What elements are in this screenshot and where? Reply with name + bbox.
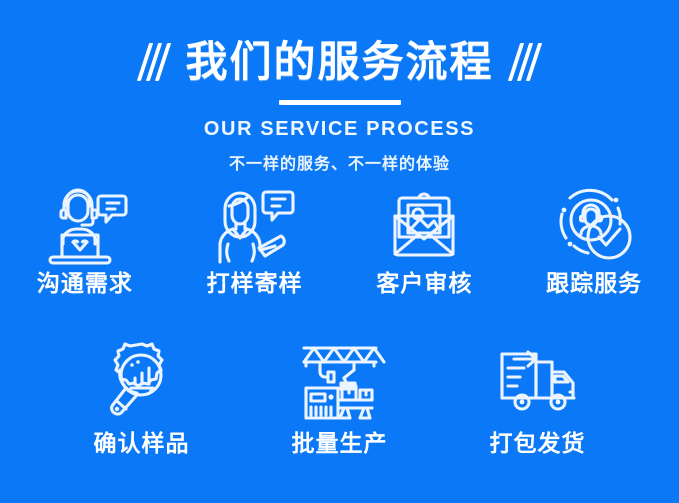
process-step-customer-review[interactable]: 客户审核 [340,182,510,297]
process-step-label: 打包发货 [490,432,586,457]
banner-header: 我们的服务流程 OUR SERVICE PROCESS 不一样的服务、不一样的体… [0,34,679,174]
process-step-label: 跟踪服务 [546,272,642,297]
process-step-label: 打样寄样 [207,272,303,297]
process-step-label: 客户审核 [376,272,472,297]
decor-slashes-right-icon [514,42,536,82]
process-step-sample-confirm[interactable]: 确认样品 [43,336,241,457]
process-step-packing-shipping[interactable]: 打包发货 [439,336,637,457]
agent-check-circle-icon [548,182,640,266]
decor-slashes-left-icon [143,42,165,82]
process-row-one: 沟通需求 [0,182,679,297]
service-process-banner: 我们的服务流程 OUR SERVICE PROCESS 不一样的服务、不一样的体… [0,0,679,503]
delivery-truck-icon [492,336,584,424]
process-row-two: 确认样品 [0,336,679,457]
process-step-label: 批量生产 [292,432,388,457]
title-row: 我们的服务流程 [0,34,679,90]
title-divider [279,100,401,105]
page-title: 我们的服务流程 [185,41,493,83]
process-step-label: 沟通需求 [37,272,133,297]
process-step-tracking[interactable]: 跟踪服务 [509,182,679,297]
woman-presenting-chat-icon [209,182,301,266]
subtitle-chinese: 不一样的服务、不一样的体验 [0,150,679,174]
headset-agent-laptop-chat-icon [39,182,131,266]
process-step-sampling[interactable]: 打样寄样 [170,182,340,297]
process-step-communication[interactable]: 沟通需求 [0,182,170,297]
process-step-label: 确认样品 [94,432,190,457]
envelope-photo-icon [378,182,470,266]
process-step-mass-production[interactable]: 批量生产 [241,336,439,457]
factory-robot-arm-icon [294,336,386,424]
magnifier-gear-chart-icon [96,336,188,424]
subtitle-english: OUR SERVICE PROCESS [0,118,679,141]
